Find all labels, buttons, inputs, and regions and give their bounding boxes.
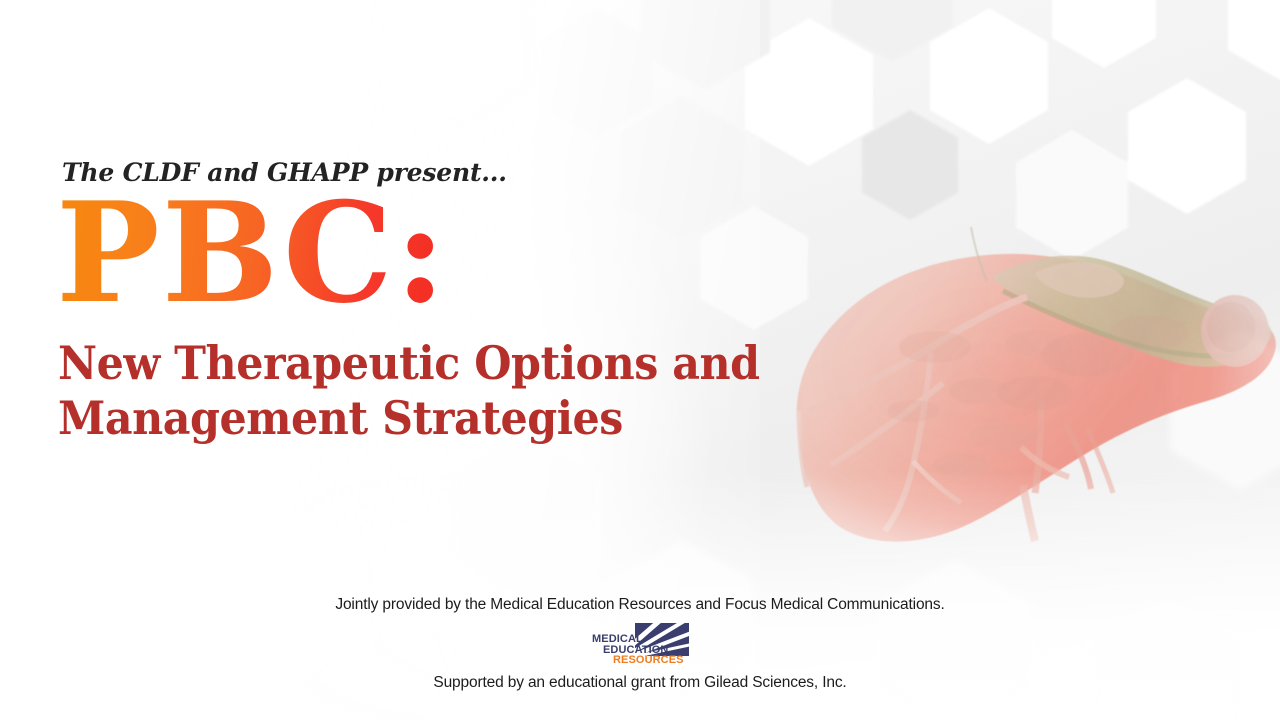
page-title: PBC: [56, 184, 448, 322]
logo-line-resources: RESOURCES [591, 655, 689, 666]
logo-line-medical: MEDICAL [591, 634, 689, 645]
grant-support-statement: Supported by an educational grant from G… [0, 674, 1280, 692]
logo-wordmark: MEDICAL EDUCATION RESOURCES [591, 634, 689, 666]
hexagon-shape [452, 430, 602, 602]
logo-row: MEDICAL EDUCATION RESOURCES [0, 623, 1280, 668]
page-subtitle: New Therapeutic Options and Management S… [58, 336, 760, 446]
presentation-title-slide: The CLDF and GHAPP present... PBC: New T… [0, 0, 1280, 720]
hexagon-shape [1170, 330, 1280, 490]
joint-provider-statement: Jointly provided by the Medical Educatio… [0, 596, 1280, 614]
slide-footer: Jointly provided by the Medical Educatio… [0, 596, 1280, 692]
medical-education-resources-logo: MEDICAL EDUCATION RESOURCES [591, 623, 689, 668]
hexagon-shape [386, 0, 536, 132]
